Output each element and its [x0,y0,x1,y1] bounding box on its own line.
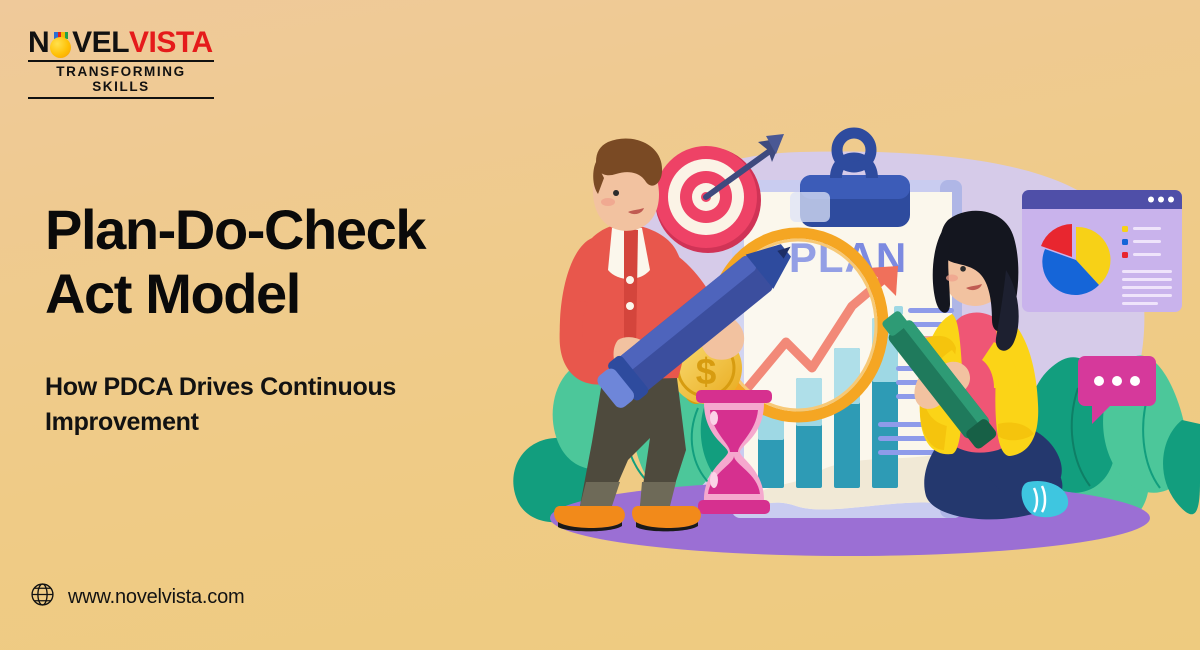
logo-word-vel: VEL [72,28,129,58]
globe-icon [30,582,55,612]
logo-word-n: N [28,28,49,58]
pdca-planning-illustration: PLAN [500,120,1200,560]
subtitle-line-1: How PDCA Drives Continuous [45,373,396,401]
window-dots [1148,197,1174,203]
logo-divider-bottom [28,97,214,99]
subtitle-line-2: Improvement [45,408,199,436]
logo-divider-top [28,60,214,62]
promo-banner: N VEL VISTA TRANSFORMING SKILLS Plan-Do-… [0,0,1200,650]
footer-website[interactable]: www.novelvista.com [30,582,244,612]
logo-tagline: TRANSFORMING SKILLS [28,64,214,94]
pie-chart-window-icon [1022,190,1182,312]
title-line-2: Act Model [45,262,300,325]
lightbulb-icon [49,32,72,59]
logo-word-vista: VISTA [129,28,213,58]
bulb-glass [50,37,71,58]
novelvista-logo[interactable]: N VEL VISTA TRANSFORMING SKILLS [28,28,214,99]
title-line-1: Plan-Do-Check [45,198,425,261]
logo-wordmark: N VEL VISTA [28,28,214,58]
website-url[interactable]: www.novelvista.com [68,586,244,609]
